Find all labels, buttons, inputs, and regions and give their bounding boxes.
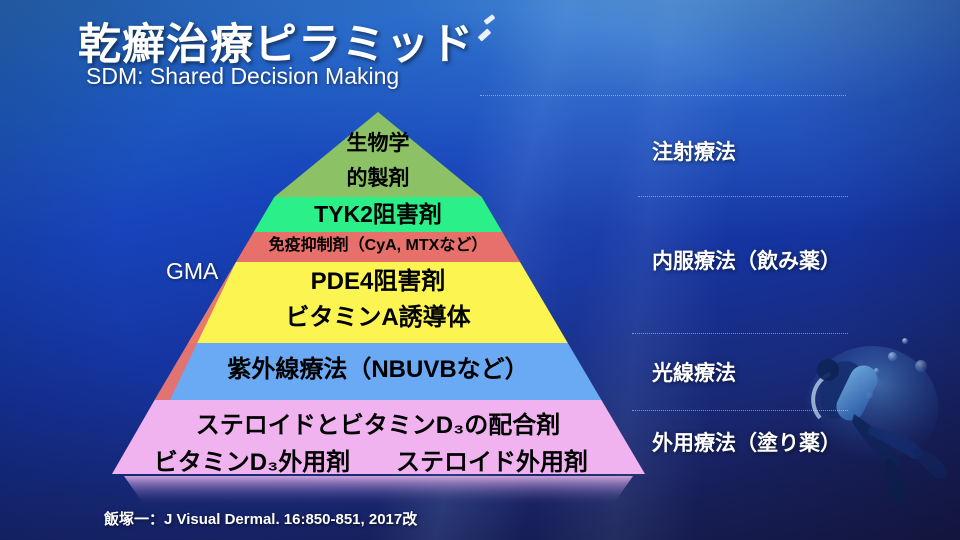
layer-label-phototherapy: 紫外線療法（NBUVBなど） [227,357,528,382]
category-label-oral: 内服療法（飲み薬） [652,245,841,275]
bubble-icon [915,360,927,372]
category-label-injection: 注射療法 [652,136,736,166]
dotted-separator-top [480,95,846,96]
layer-label-vitamin-a: ビタミンA誘導体 [285,305,470,330]
layer-label-pde4: PDE4阻害剤 [311,269,446,294]
bubble-icon [902,338,908,344]
layer-label-steroid-topical: ステロイド外用剤 [396,450,588,475]
page-subtitle: SDM: Shared Decision Making [86,63,399,90]
category-label-light: 光線療法 [652,357,736,387]
layer-label-tyk2: TYK2阻害剤 [314,202,442,226]
dotted-separator-light [632,410,848,411]
layer-label-vitamin-d3-topical: ビタミンD₃外用剤 [154,450,350,475]
category-label-topical: 外用療法（塗り薬） [652,427,841,457]
layer-label-biologics-line2: 的製剤 [347,168,410,190]
dotted-separator-injection [638,196,848,197]
layer-label-combination: ステロイドとビタミンD₃の配合剤 [196,413,560,438]
dotted-separator-oral [632,333,848,334]
gma-label: GMA [166,258,218,285]
layer-label-biologics-line1: 生物学 [347,133,410,155]
bubble-icon [866,392,873,399]
slide-canvas: 乾癬治療ピラミッド SDM: Shared Decision Making [0,0,960,540]
layer-label-immunosuppressants: 免疫抑制剤（CyA, MTXなど） [269,238,488,255]
bubble-icon [874,368,879,373]
citation-text: 飯塚一：J Visual Dermal. 16:850-851, 2017改 [104,508,417,529]
bubble-icon [888,352,897,361]
